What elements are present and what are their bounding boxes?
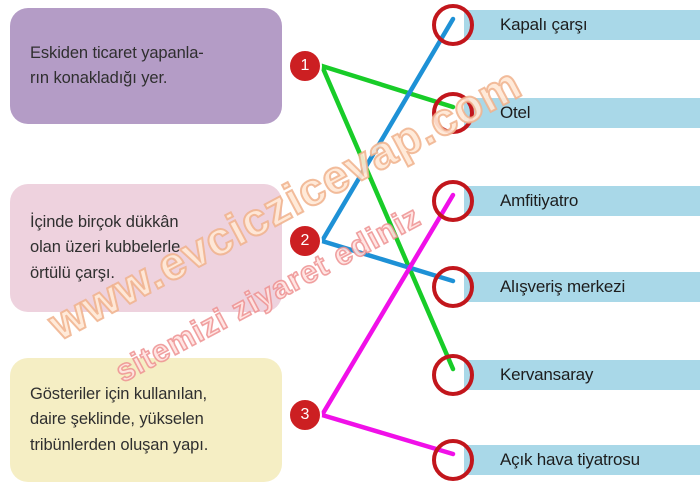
answer-circle-3[interactable]: [432, 180, 474, 222]
answer-row-6[interactable]: Açık hava tiyatrosu: [432, 445, 688, 475]
definition-text-1: Eskiden ticaret yapanla- rın konakladığı…: [30, 41, 204, 91]
answer-label-3: Amfitiyatro: [500, 186, 578, 216]
definition-box-3[interactable]: Gösteriler için kullanılan, daire şeklin…: [10, 358, 282, 482]
answer-label-5: Kervansaray: [500, 360, 593, 390]
worksheet-canvas: Eskiden ticaret yapanla- rın konakladığı…: [0, 0, 700, 487]
definition-box-2[interactable]: İçinde birçok dükkân olan üzeri kubbeler…: [10, 184, 282, 312]
number-node-3[interactable]: 3: [288, 398, 322, 432]
answer-label-4: Alışveriş merkezi: [500, 272, 625, 302]
answer-circle-1[interactable]: [432, 4, 474, 46]
answer-row-4[interactable]: Alışveriş merkezi: [432, 272, 688, 302]
number-node-2-label: 2: [301, 232, 310, 250]
definition-text-2: İçinde birçok dükkân olan üzeri kubbeler…: [30, 210, 180, 285]
answer-circle-6[interactable]: [432, 439, 474, 481]
answer-label-2: Otel: [500, 98, 530, 128]
answer-circle-5[interactable]: [432, 354, 474, 396]
definition-box-1[interactable]: Eskiden ticaret yapanla- rın konakladığı…: [10, 8, 282, 124]
answer-label-1: Kapalı çarşı: [500, 10, 587, 40]
answer-row-2[interactable]: Otel: [432, 98, 688, 128]
number-node-1[interactable]: 1: [288, 49, 322, 83]
number-node-2[interactable]: 2: [288, 224, 322, 258]
answer-circle-2[interactable]: [432, 92, 474, 134]
answer-row-3[interactable]: Amfitiyatro: [432, 186, 688, 216]
answer-row-1[interactable]: Kapalı çarşı: [432, 10, 688, 40]
answer-row-5[interactable]: Kervansaray: [432, 360, 688, 390]
answer-label-6: Açık hava tiyatrosu: [500, 445, 640, 475]
answer-circle-4[interactable]: [432, 266, 474, 308]
definition-text-3: Gösteriler için kullanılan, daire şeklin…: [30, 382, 208, 457]
number-node-1-label: 1: [301, 57, 310, 75]
number-node-3-label: 3: [301, 406, 310, 424]
